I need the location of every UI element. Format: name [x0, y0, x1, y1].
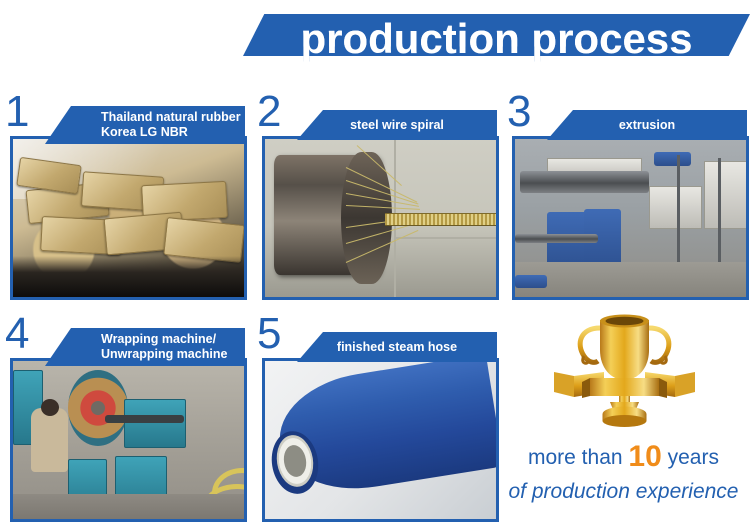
- step-label-3-line-1: extrusion: [619, 118, 675, 133]
- tagline-number: 10: [628, 440, 661, 473]
- step-label-4-line-2: Unwrapping machine: [101, 347, 227, 362]
- step-panel-4: 4 Wrapping machine/ Unwrapping machine: [0, 310, 248, 525]
- step-label-5-line-1: finished steam hose: [337, 340, 457, 355]
- tagline-suffix: years: [668, 446, 719, 469]
- step-label-1-line-1: Thailand natural rubber: [101, 110, 241, 125]
- step-panel-1: 1 Thailand natural rubber Korea LG NBR: [0, 88, 248, 303]
- header-banner: production process: [0, 0, 750, 80]
- photo-5-scene: [265, 361, 496, 519]
- photo-4-scene: [13, 361, 244, 519]
- production-process-infographic: production process 1 Thailand natural ru…: [0, 0, 750, 525]
- step-label-1: Thailand natural rubber Korea LG NBR: [45, 106, 245, 144]
- step-label-4-line-1: Wrapping machine/: [101, 332, 216, 347]
- trophy-icon: [552, 314, 697, 432]
- step-photo-3: [512, 136, 749, 300]
- photo-2-scene: [265, 139, 496, 297]
- step-label-2-line-1: steel wire spiral: [350, 118, 444, 133]
- step-label-3: extrusion: [547, 110, 747, 140]
- step-number-2: 2: [257, 90, 281, 134]
- step-photo-5: [262, 358, 499, 522]
- step-panel-5: 5 finished steam hose: [252, 310, 500, 525]
- step-label-1-line-2: Korea LG NBR: [101, 125, 188, 140]
- step-label-2: steel wire spiral: [297, 110, 497, 140]
- step-label-4: Wrapping machine/ Unwrapping machine: [45, 328, 245, 366]
- step-number-5: 5: [257, 312, 281, 356]
- step-number-1: 1: [5, 90, 29, 134]
- experience-badge: more than 10 years of production experie…: [497, 312, 750, 525]
- step-panel-2: 2 steel wire spiral: [252, 88, 500, 303]
- step-label-5: finished steam hose: [297, 332, 497, 362]
- step-number-4: 4: [5, 312, 29, 356]
- experience-tagline-line-2: of production experience: [497, 480, 750, 504]
- tagline-prefix: more than: [528, 446, 623, 469]
- step-photo-2: [262, 136, 499, 300]
- step-number-3: 3: [507, 90, 531, 134]
- experience-tagline-line-1: more than 10 years: [497, 440, 750, 474]
- step-photo-1: [10, 136, 247, 300]
- photo-3-scene: [515, 139, 746, 297]
- page-title: production process: [243, 8, 750, 70]
- step-photo-4: [10, 358, 247, 522]
- step-panel-3: 3 extrusion: [502, 88, 750, 303]
- photo-1-scene: [13, 139, 244, 297]
